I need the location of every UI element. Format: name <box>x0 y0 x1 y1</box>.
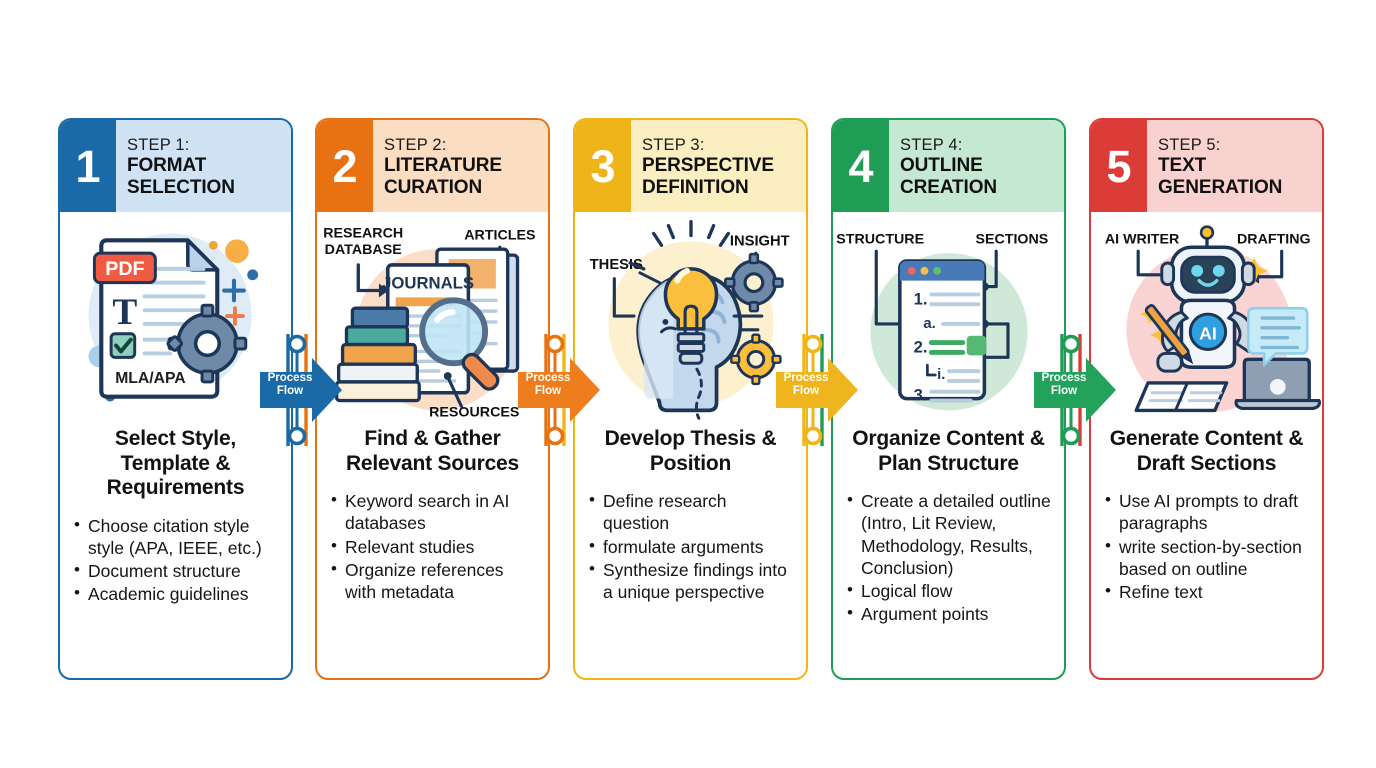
card-bullets-4: Create a detailed outline (Intro, Lit Re… <box>846 490 1051 626</box>
step-header-text-2: STEP 2: LITERATURE CURATION <box>373 120 548 212</box>
bullet-item: Relevant studies <box>330 536 535 558</box>
step-title-line2-1: SELECTION <box>127 177 285 198</box>
svg-text:SECTIONS: SECTIONS <box>975 231 1048 247</box>
process-flow-diagram: 1 STEP 1: FORMAT SELECTION <box>0 0 1376 768</box>
step-card-5[interactable]: 5 STEP 5: TEXT GENERATION AI WRITER DRAF… <box>1089 118 1324 680</box>
bullet-item: Synthesize findings into a unique perspe… <box>588 559 793 603</box>
step-title-3: PERSPECTIVE DEFINITION <box>642 155 800 198</box>
bullet-item: Organize references with metadata <box>330 559 535 603</box>
step-header-text-4: STEP 4: OUTLINE CREATION <box>889 120 1064 212</box>
step-title-4: OUTLINE CREATION <box>900 155 1058 198</box>
bullet-item: Use AI prompts to draft paragraphs <box>1104 490 1309 534</box>
step-header-1: 1 STEP 1: FORMAT SELECTION <box>60 120 291 212</box>
card-body-4: Organize Content & Plan Structure Create… <box>833 427 1064 678</box>
card-bullets-2: Keyword search in AI databases Relevant … <box>330 490 535 604</box>
step-title-line1-5: TEXT <box>1158 155 1316 176</box>
step-label-5: STEP 5: <box>1158 136 1316 155</box>
svg-text:DATABASE: DATABASE <box>325 242 402 258</box>
bullet-item: formulate arguments <box>588 536 793 558</box>
card-subtitle-4: Organize Content & Plan Structure <box>846 427 1051 476</box>
svg-text:PDF: PDF <box>105 258 144 280</box>
step-number-3: 3 <box>575 120 631 212</box>
step-header-text-3: STEP 3: PERSPECTIVE DEFINITION <box>631 120 806 212</box>
step-number-5: 5 <box>1091 120 1147 212</box>
step-title-line1-1: FORMAT <box>127 155 285 176</box>
bullet-item: Logical flow <box>846 580 1051 602</box>
step-title-5: TEXT GENERATION <box>1158 155 1316 198</box>
bullet-item: Choose citation style style (APA, IEEE, … <box>73 515 278 559</box>
step-number-1: 1 <box>60 120 116 212</box>
step-title-line1-3: PERSPECTIVE <box>642 155 800 176</box>
bullet-item: Academic guidelines <box>73 583 278 605</box>
step-title-line2-2: CURATION <box>384 177 542 198</box>
svg-text:T: T <box>112 292 137 333</box>
svg-text:a.: a. <box>923 316 935 332</box>
step-title-line1-4: OUTLINE <box>900 155 1058 176</box>
step-label-3: STEP 3: <box>642 136 800 155</box>
svg-text:JOURNALS: JOURNALS <box>382 274 474 293</box>
step-header-5: 5 STEP 5: TEXT GENERATION <box>1091 120 1322 212</box>
step-title-line2-3: DEFINITION <box>642 177 800 198</box>
svg-text:2.: 2. <box>914 337 928 356</box>
card-body-2: Find & Gather Relevant Sources Keyword s… <box>317 427 548 678</box>
connector-4: Process Flow <box>1030 330 1122 450</box>
svg-text:3.: 3. <box>914 386 928 405</box>
svg-text:AI: AI <box>1199 324 1217 344</box>
step-number-4: 4 <box>833 120 889 212</box>
bullet-item: Define research question <box>588 490 793 534</box>
step-title-2: LITERATURE CURATION <box>384 155 542 198</box>
step-label-4: STEP 4: <box>900 136 1058 155</box>
step-number-2: 2 <box>317 120 373 212</box>
svg-text:DRAFTING: DRAFTING <box>1237 231 1311 247</box>
bullet-item: Create a detailed outline (Intro, Lit Re… <box>846 490 1051 579</box>
card-subtitle-2: Find & Gather Relevant Sources <box>330 427 535 476</box>
step-title-1: FORMAT SELECTION <box>127 155 285 198</box>
svg-text:RESOURCES: RESOURCES <box>429 404 519 420</box>
step-header-2: 2 STEP 2: LITERATURE CURATION <box>317 120 548 212</box>
card-body-1: Select Style, Template & Requirements Ch… <box>60 427 291 678</box>
card-body-5: Generate Content & Draft Sections Use AI… <box>1091 427 1322 678</box>
svg-text:RESEARCH: RESEARCH <box>323 225 403 241</box>
step-header-4: 4 STEP 4: OUTLINE CREATION <box>833 120 1064 212</box>
card-subtitle-5: Generate Content & Draft Sections <box>1104 427 1309 476</box>
step-title-line2-4: CREATION <box>900 177 1058 198</box>
svg-text:STRUCTURE: STRUCTURE <box>836 231 924 247</box>
step-label-2: STEP 2: <box>384 136 542 155</box>
step-header-text-1: STEP 1: FORMAT SELECTION <box>116 120 291 212</box>
svg-text:AI WRITER: AI WRITER <box>1105 231 1179 247</box>
step-label-1: STEP 1: <box>127 136 285 155</box>
card-bullets-1: Choose citation style style (APA, IEEE, … <box>73 515 278 607</box>
connector-1: Process Flow <box>256 330 348 450</box>
card-bullets-3: Define research question formulate argum… <box>588 490 793 604</box>
connector-2: Process Flow <box>514 330 606 450</box>
step-title-line2-5: GENERATION <box>1158 177 1316 198</box>
step-header-3: 3 STEP 3: PERSPECTIVE DEFINITION <box>575 120 806 212</box>
svg-text:ARTICLES: ARTICLES <box>464 227 535 243</box>
bullet-item: Document structure <box>73 560 278 582</box>
card-bullets-5: Use AI prompts to draft paragraphs write… <box>1104 490 1309 604</box>
bullet-item: Keyword search in AI databases <box>330 490 535 534</box>
illustration-5: AI WRITER DRAFTING <box>1091 212 1322 427</box>
bullet-item: write section-by-section based on outlin… <box>1104 536 1309 580</box>
svg-text:INSIGHT: INSIGHT <box>730 233 790 249</box>
card-body-3: Develop Thesis & Position Define researc… <box>575 427 806 678</box>
step-title-line1-2: LITERATURE <box>384 155 542 176</box>
card-subtitle-1: Select Style, Template & Requirements <box>73 427 278 501</box>
step-header-text-5: STEP 5: TEXT GENERATION <box>1147 120 1322 212</box>
connector-3: Process Flow <box>772 330 864 450</box>
card-subtitle-3: Develop Thesis & Position <box>588 427 793 476</box>
svg-text:1.: 1. <box>914 289 928 308</box>
svg-text:i.: i. <box>937 367 945 383</box>
bullet-item: Refine text <box>1104 581 1309 603</box>
svg-text:MLA/APA: MLA/APA <box>115 370 185 387</box>
bullet-item: Argument points <box>846 603 1051 625</box>
